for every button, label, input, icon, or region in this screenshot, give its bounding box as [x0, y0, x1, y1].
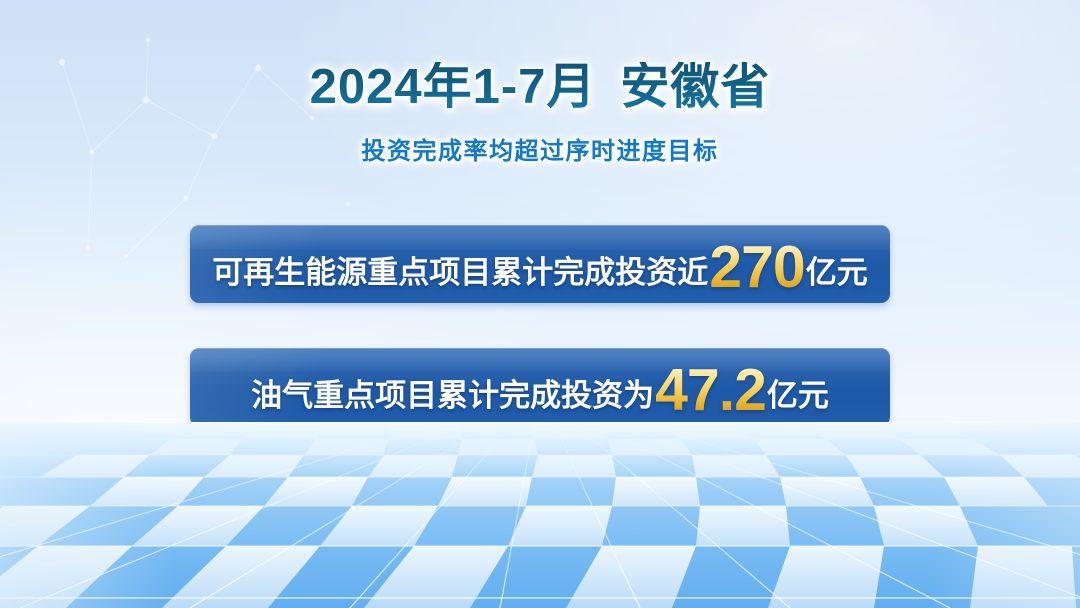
stat-bar-oil-gas: 油气重点项目累计完成投资为 47.2 亿元	[190, 348, 890, 426]
headings-block: 2024年1-7月安徽省 投资完成率均超过序时进度目标	[0, 62, 1080, 166]
page-subtitle: 投资完成率均超过序时进度目标	[0, 131, 1080, 166]
stat-bars: 可再生能源重点项目累计完成投资近 270 亿元 油气重点项目累计完成投资为 47…	[190, 225, 890, 426]
stat-label: 可再生能源重点项目累计完成投资近	[212, 247, 708, 292]
stat-value: 270	[708, 241, 805, 294]
floor-horizon-line	[0, 422, 1080, 423]
page-title: 2024年1-7月安徽省	[0, 62, 1080, 114]
stat-bar-content: 可再生能源重点项目累计完成投资近 270 亿元	[190, 237, 890, 292]
stat-value: 47.2	[654, 364, 767, 417]
stat-label: 油气重点项目累计完成投资为	[251, 370, 654, 415]
perspective-floor	[0, 422, 1080, 608]
stat-unit: 亿元	[806, 247, 868, 292]
infographic-canvas: 2024年1-7月安徽省 投资完成率均超过序时进度目标 可再生能源重点项目累计完…	[0, 0, 1080, 608]
title-region: 安徽省	[620, 60, 770, 114]
stat-unit: 亿元	[767, 370, 829, 415]
stat-bar-content: 油气重点项目累计完成投资为 47.2 亿元	[190, 360, 890, 415]
floor-tile-grid	[0, 422, 1080, 608]
stat-bar-renewable: 可再生能源重点项目累计完成投资近 270 亿元	[190, 225, 890, 303]
title-period: 2024年1-7月	[310, 60, 597, 114]
